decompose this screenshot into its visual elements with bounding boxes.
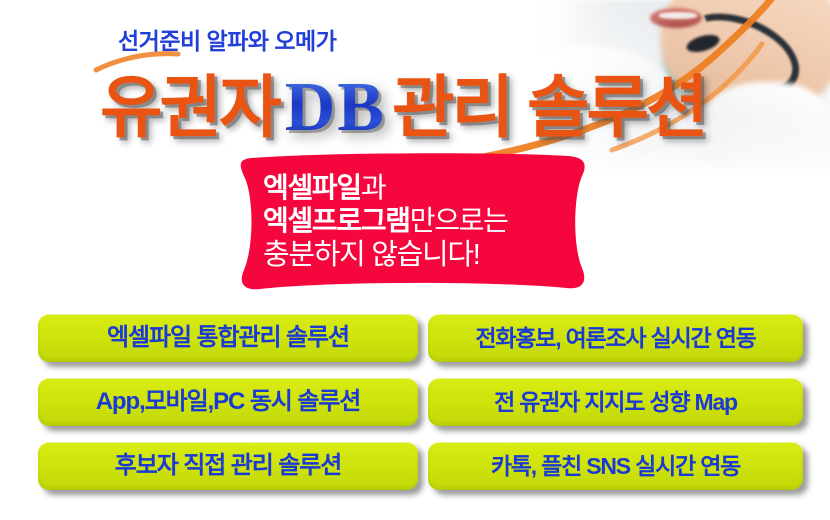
feature-column-right: 전화홍보, 여론조사 실시간 연동 전 유권자 지지도 성향 Map 카톡, 플… bbox=[428, 314, 803, 506]
feature-button-phone-survey[interactable]: 전화홍보, 여론조사 실시간 연동 bbox=[428, 314, 803, 362]
ribbon-line-1: 엑셀파일과 bbox=[263, 173, 385, 203]
banner-title: 유권자 DB 관리 솔루션 bbox=[100, 60, 706, 156]
promo-banner: 선거준비 알파와 오메가 유권자 DB 관리 솔루션 엑셀파일과 엑셀프로그램만… bbox=[0, 0, 830, 520]
red-ribbon-callout: 엑셀파일과 엑셀프로그램만으로는 충분하지 않습니다! bbox=[216, 152, 616, 292]
banner-subtitle: 선거준비 알파와 오메가 bbox=[118, 22, 336, 56]
feature-button-sns-sync[interactable]: 카톡, 플친 SNS 실시간 연동 bbox=[428, 442, 803, 490]
ribbon-line-1-highlight: 엑셀파일 bbox=[263, 172, 361, 203]
ribbon-line-1-rest: 과 bbox=[361, 172, 385, 203]
ribbon-line-2: 엑셀프로그램만으로는 bbox=[263, 206, 508, 236]
feature-button-label: 전 유권자 지지도 성향 Map bbox=[494, 391, 737, 414]
feature-button-excel-integration[interactable]: 엑셀파일 통합관리 솔루션 bbox=[38, 314, 418, 362]
ribbon-line-3: 충분하지 않습니다! bbox=[263, 240, 480, 271]
feature-button-label: 전화홍보, 여론조사 실시간 연동 bbox=[475, 327, 755, 350]
feature-button-label: App,모바일,PC 동시 솔루션 bbox=[96, 390, 361, 414]
feature-button-multiplatform[interactable]: App,모바일,PC 동시 솔루션 bbox=[38, 378, 418, 426]
ribbon-line-2-rest: 만으로는 bbox=[410, 205, 508, 236]
title-text-after: 관리 솔루션 bbox=[392, 74, 706, 142]
feature-button-voter-support-map[interactable]: 전 유권자 지지도 성향 Map bbox=[428, 378, 803, 426]
title-text-db: DB bbox=[279, 73, 392, 143]
feature-button-label: 엑셀파일 통합관리 솔루션 bbox=[107, 326, 349, 350]
feature-button-label: 카톡, 플친 SNS 실시간 연동 bbox=[491, 455, 740, 478]
ribbon-line-2-highlight: 엑셀프로그램 bbox=[263, 205, 410, 236]
title-text-before: 유권자 bbox=[100, 74, 279, 142]
feature-column-left: 엑셀파일 통합관리 솔루션 App,모바일,PC 동시 솔루션 후보자 직접 관… bbox=[38, 314, 418, 506]
feature-button-label: 후보자 직접 관리 솔루션 bbox=[115, 454, 342, 478]
feature-button-candidate-management[interactable]: 후보자 직접 관리 솔루션 bbox=[38, 442, 418, 490]
